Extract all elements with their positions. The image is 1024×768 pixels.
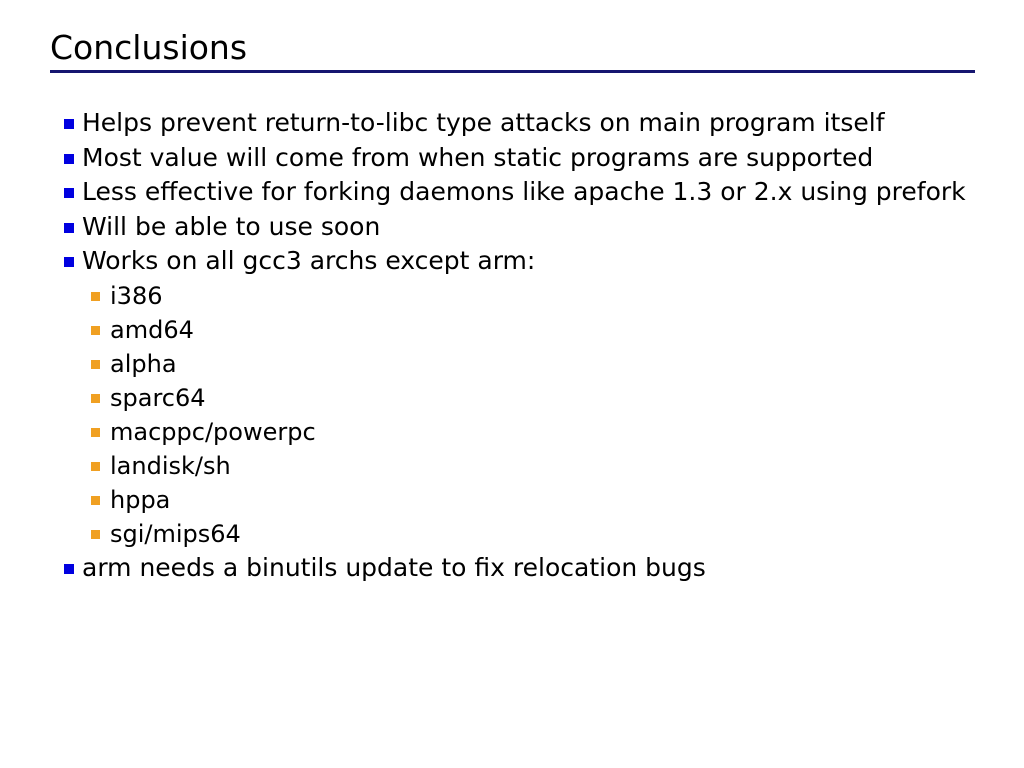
list-item: sgi/mips64 xyxy=(0,517,1024,551)
list-item: amd64 xyxy=(0,313,1024,347)
list-item: landisk/sh xyxy=(0,449,1024,483)
list-item-label: sparc64 xyxy=(110,384,206,412)
square-bullet-blue-icon xyxy=(64,223,74,233)
list-item-label: hppa xyxy=(110,486,170,514)
list-item-label: arm needs a binutils update to fix reloc… xyxy=(82,553,706,582)
slide-body: Helps prevent return-to-libc type attack… xyxy=(0,106,1024,585)
list-item-label: alpha xyxy=(110,350,177,378)
list-item: Will be able to use soon xyxy=(0,210,1024,245)
list-item: Most value will come from when static pr… xyxy=(0,141,1024,176)
square-bullet-blue-icon xyxy=(64,564,74,574)
list-item-label: Most value will come from when static pr… xyxy=(82,143,873,172)
square-bullet-orange-icon xyxy=(91,394,100,403)
slide-canvas: Conclusions Helps prevent return-to-libc… xyxy=(0,0,1024,768)
list-item-label: Helps prevent return-to-libc type attack… xyxy=(82,108,885,137)
square-bullet-orange-icon xyxy=(91,292,100,301)
square-bullet-orange-icon xyxy=(91,496,100,505)
sub-bullet-list: i386 amd64 alpha sparc64 xyxy=(0,279,1024,551)
list-item-label: landisk/sh xyxy=(110,452,231,480)
list-item: Less effective for forking daemons like … xyxy=(0,175,1024,210)
list-item-label: Works on all gcc3 archs except arm: xyxy=(82,246,535,275)
list-item-label: macppc/powerpc xyxy=(110,418,316,446)
square-bullet-orange-icon xyxy=(91,530,100,539)
square-bullet-blue-icon xyxy=(64,257,74,267)
square-bullet-blue-icon xyxy=(64,188,74,198)
page-title: Conclusions xyxy=(50,28,247,68)
square-bullet-orange-icon xyxy=(91,326,100,335)
list-item: Helps prevent return-to-libc type attack… xyxy=(0,106,1024,141)
list-item-label: amd64 xyxy=(110,316,194,344)
square-bullet-blue-icon xyxy=(64,119,74,129)
list-item: macppc/powerpc xyxy=(0,415,1024,449)
list-item: i386 xyxy=(0,279,1024,313)
list-item-label: Will be able to use soon xyxy=(82,212,380,241)
list-item-label: Less effective for forking daemons like … xyxy=(82,177,966,206)
list-item: hppa xyxy=(0,483,1024,517)
list-item-label: sgi/mips64 xyxy=(110,520,241,548)
square-bullet-orange-icon xyxy=(91,462,100,471)
bullet-list: Helps prevent return-to-libc type attack… xyxy=(0,106,1024,585)
list-item: arm needs a binutils update to fix reloc… xyxy=(0,551,1024,586)
square-bullet-orange-icon xyxy=(91,360,100,369)
list-item: Works on all gcc3 archs except arm: xyxy=(0,244,1024,279)
sub-list-container: i386 amd64 alpha sparc64 xyxy=(0,279,1024,551)
square-bullet-orange-icon xyxy=(91,428,100,437)
list-item: sparc64 xyxy=(0,381,1024,415)
list-item: alpha xyxy=(0,347,1024,381)
square-bullet-blue-icon xyxy=(64,154,74,164)
list-item-label: i386 xyxy=(110,282,162,310)
title-divider xyxy=(50,70,975,73)
